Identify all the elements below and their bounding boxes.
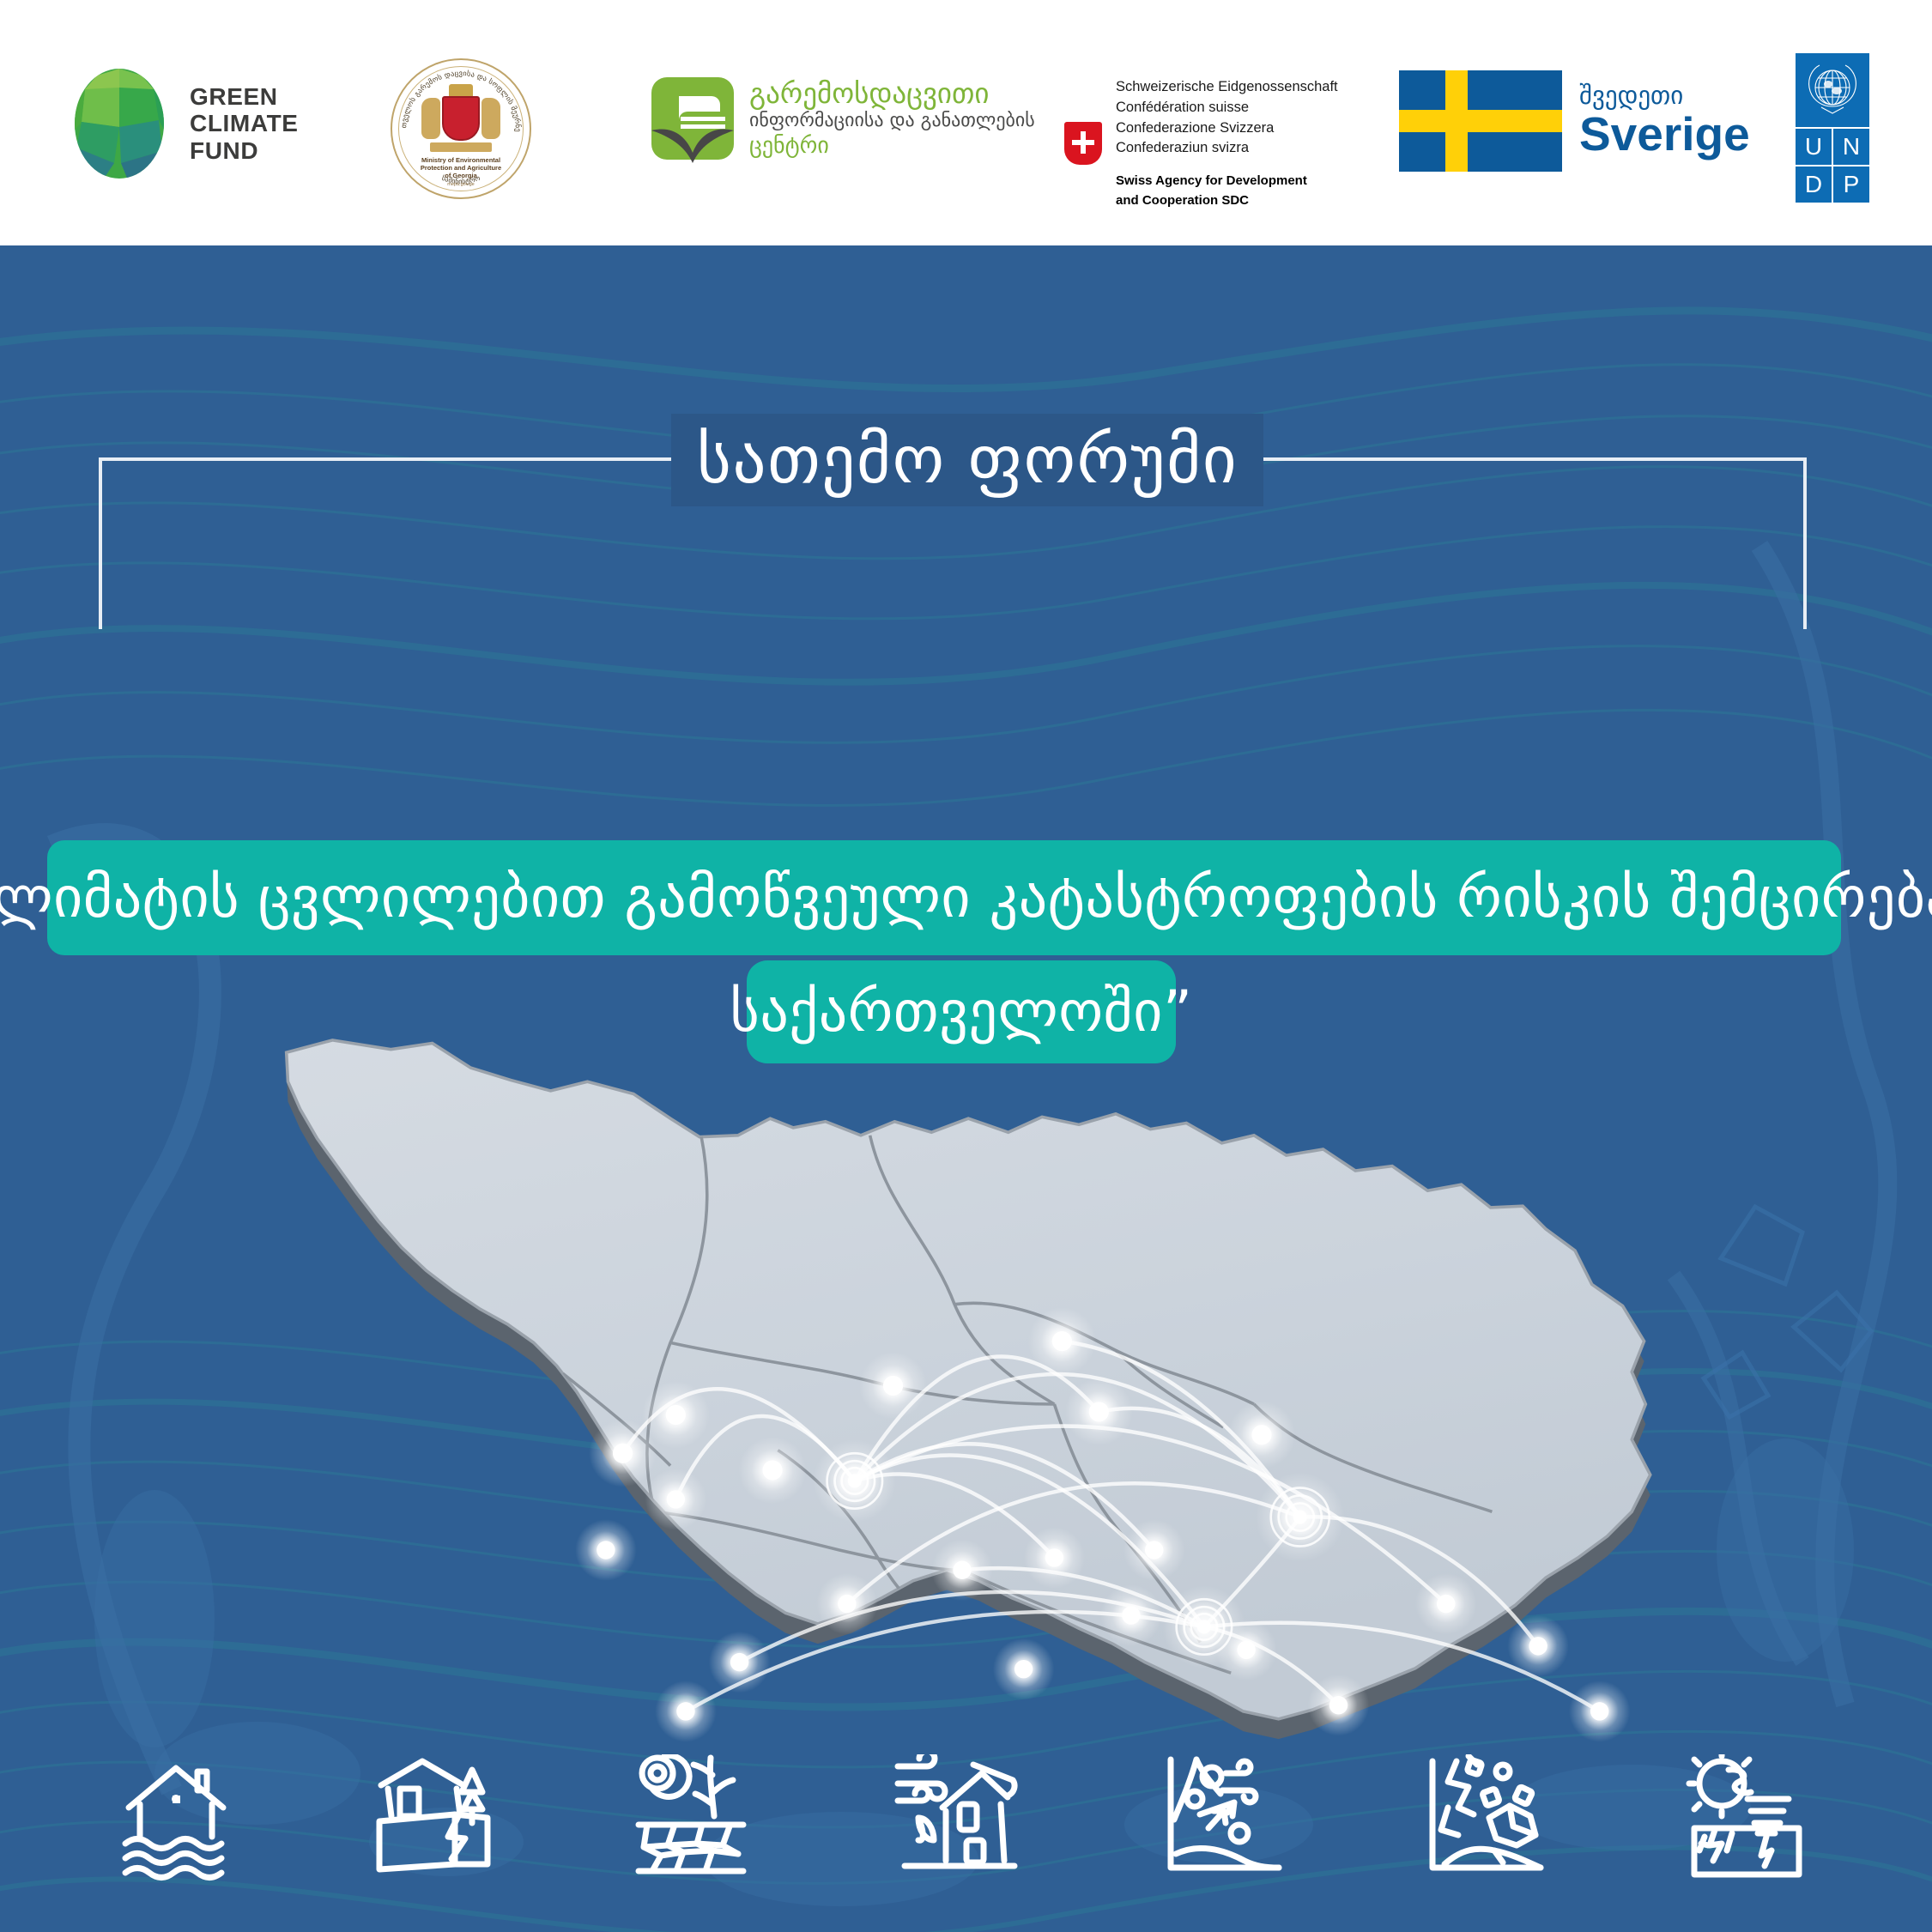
seal-shield-icon	[442, 96, 480, 141]
poster-main-panel: სათემო ფორუმი „კლიმატის ცვლილებით გამოწვ…	[0, 245, 1932, 1932]
seal-crown-icon	[449, 84, 473, 96]
seal-lion-left-icon	[421, 98, 440, 139]
seal-lion-right-icon	[481, 98, 500, 139]
logo-green-climate-fund: GREEN CLIMATE FUND	[64, 67, 299, 180]
eiec-wordmark: გარემოსდაცვითი ინფორმაციისა და განათლები…	[749, 79, 1035, 159]
seal-ribbon-icon	[430, 142, 492, 152]
seal-url: mepa.gov.ge	[406, 182, 516, 187]
landslide-house-icon	[369, 1754, 498, 1883]
windstorm-house-icon	[893, 1754, 1021, 1883]
logo-environmental-information-education-centre: გარემოსდაცვითი ინფორმაციისა და განათლები…	[648, 74, 1035, 163]
flood-house-icon	[112, 1754, 240, 1883]
logo-sweden-sverige: შვედეთი Sverige	[1399, 70, 1750, 172]
hailstorm-tornado-icon	[1682, 1754, 1811, 1883]
sweden-wordmark: შვედეთი Sverige	[1579, 83, 1750, 160]
eiec-book-leaf-icon	[648, 74, 737, 163]
seal-caption: Ministry of Environmental Protection and…	[406, 156, 516, 179]
georgia-ministry-seal-icon: საქართველოს გარემოს დაცვისა და სოფლის მე…	[391, 58, 531, 199]
undp-letter-u: U	[1796, 129, 1832, 165]
undp-letter-d: D	[1796, 167, 1832, 203]
swiss-cross-shield-icon	[1064, 122, 1102, 165]
forum-title-text: სათემო ფორუმი	[697, 427, 1239, 494]
partner-logo-bar: GREEN CLIMATE FUND საქართველოს გარემოს დ…	[0, 0, 1932, 245]
logo-ministry-of-environment-georgia: საქართველოს გარემოს დაცვისა და სოფლის მე…	[391, 58, 531, 199]
poster-canvas: GREEN CLIMATE FUND საქართველოს გარემოს დ…	[0, 0, 1932, 1932]
logo-swiss-agency-sdc: Schweizerische Eidgenossenschaft Confédé…	[1064, 77, 1338, 209]
drought-cracked-earth-icon	[627, 1754, 755, 1883]
gcf-wordmark: GREEN CLIMATE FUND	[190, 83, 299, 164]
undp-letter-p: P	[1833, 167, 1869, 203]
forum-title-chip: სათემო ფორუმი	[671, 414, 1263, 506]
avalanche-icon	[1159, 1754, 1287, 1883]
gcf-globe-icon	[64, 67, 174, 180]
swedish-flag-icon	[1399, 70, 1562, 172]
sdc-wordmark: Schweizerische Eidgenossenschaft Confédé…	[1116, 77, 1338, 209]
un-emblem-icon	[1796, 53, 1869, 127]
undp-letters: U N D P	[1796, 129, 1869, 203]
rockfall-icon	[1420, 1754, 1549, 1883]
hazard-icon-row	[0, 1739, 1932, 1902]
undp-letter-n: N	[1833, 129, 1869, 165]
logo-undp: U N D P	[1796, 53, 1869, 203]
